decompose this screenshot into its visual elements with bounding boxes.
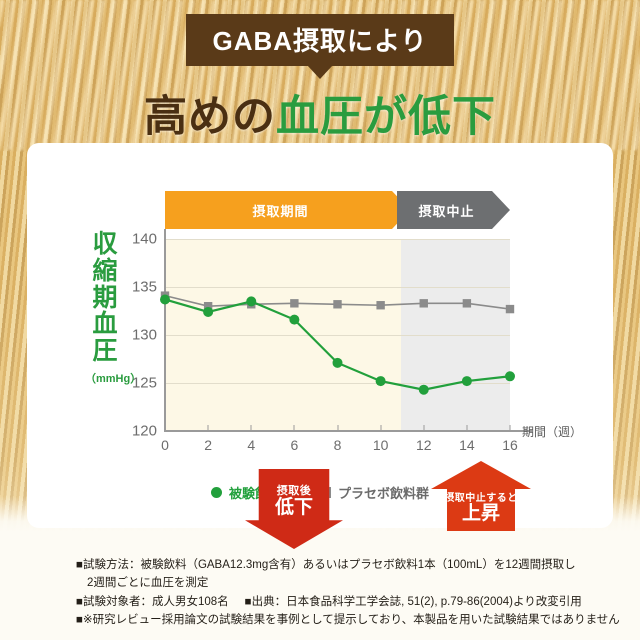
y-caption-char-1: 縮 (85, 258, 125, 285)
y-tick-label-140: 140 (132, 231, 157, 248)
headline-dark-part: 高めの (144, 93, 276, 141)
data-point-プラセボ飲料群-10 (376, 301, 384, 309)
data-point-被験飲料群-14 (462, 376, 472, 386)
series-line-被験飲料群 (165, 299, 510, 389)
data-point-被験飲料群-8 (333, 358, 343, 368)
banner-gaba: GABA摂取により (186, 14, 453, 66)
phase-arrow-row: 摂取期間 摂取中止 (165, 191, 510, 229)
headline-green-part: 血圧が低下 (276, 93, 496, 141)
y-caption-unit: （mmHg） (85, 370, 125, 386)
y-tick-label-130: 130 (132, 327, 157, 344)
data-point-プラセボ飲料群-16 (506, 305, 514, 313)
footnotes: ■試験方法：被験飲料（GABA12.3mg含有）あるいはプラセボ飲料1本（100… (0, 542, 640, 640)
x-axis-caption: 期間（週） (522, 423, 582, 440)
x-tick-label-6: 6 (290, 437, 298, 453)
y-caption-char-3: 血 (85, 311, 125, 338)
footnote-source: ■出典：日本食品科学工学会誌, 51(2), p.79-86(2004)より改変… (245, 593, 582, 612)
data-point-被験飲料群-4 (246, 296, 256, 306)
x-tick-label-14: 14 (459, 437, 475, 453)
data-point-被験飲料群-0 (160, 294, 170, 304)
x-tick-label-10: 10 (373, 437, 389, 453)
y-caption-char-2: 期 (85, 285, 125, 312)
x-tick-label-0: 0 (161, 437, 169, 453)
footnote-subjects-row: ■試験対象者：成人男女108名 ■出典：日本食品科学工学会誌, 51(2), p… (76, 593, 618, 612)
x-tick-label-8: 8 (334, 437, 342, 453)
y-tick-label-125: 125 (132, 375, 157, 392)
callout-decrease-big: 低下 (275, 498, 313, 518)
footnote-subjects: ■試験対象者：成人男女108名 (76, 593, 229, 612)
phase-intake-label: 摂取期間 (252, 201, 308, 220)
y-caption-char-0: 収 (85, 231, 125, 258)
x-tick-label-12: 12 (416, 437, 432, 453)
data-point-被験飲料群-16 (505, 371, 515, 381)
data-point-プラセボ飲料群-14 (463, 299, 471, 307)
callout-increase-top: 摂取中止すると (444, 489, 518, 504)
y-caption-char-4: 圧 (85, 338, 125, 365)
x-tick-label-2: 2 (204, 437, 212, 453)
phase-arrow-intake: 摂取期間 (165, 191, 410, 229)
phase-arrow-stop: 摂取中止 (397, 191, 510, 229)
banner-label: GABA摂取により (212, 26, 427, 56)
data-point-被験飲料群-2 (203, 307, 213, 317)
circle-marker-icon (211, 487, 222, 498)
banner-tail-icon (307, 65, 333, 79)
legend-item-placebo: プラセボ飲料群 (320, 483, 429, 502)
footnote-method: ■試験方法：被験飲料（GABA12.3mg含有）あるいはプラセボ飲料1本（100… (76, 556, 618, 575)
chart-card: 摂取期間 摂取中止 収 縮 期 血 圧 （mmHg） 1201251301351… (27, 143, 613, 528)
footnote-disclaimer: ■※研究レビュー採用論文の試験結果を事例として提示しており、本製品を用いた試験結… (76, 611, 618, 630)
callout-decrease-top: 摂取後 (277, 482, 312, 498)
data-point-被験飲料群-12 (419, 385, 429, 395)
headline-area: GABA摂取により 高めの血圧が低下 (0, 14, 640, 144)
data-point-プラセボ飲料群-8 (333, 300, 341, 308)
data-point-被験飲料群-10 (376, 376, 386, 386)
data-point-被験飲料群-6 (289, 315, 299, 325)
footnote-method-cont: 2週間ごとに血圧を測定 (76, 574, 618, 593)
plot-area: 120125130135140 0246810121416 期間（週） (165, 239, 510, 431)
y-tick-label-135: 135 (132, 279, 157, 296)
y-axis-caption: 収 縮 期 血 圧 （mmHg） (85, 231, 125, 386)
data-point-プラセボ飲料群-12 (420, 299, 428, 307)
legend-label-placebo: プラセボ飲料群 (338, 483, 429, 502)
callout-increase-big: 上昇 (462, 504, 500, 524)
data-point-プラセボ飲料群-6 (290, 299, 298, 307)
x-tick-label-4: 4 (247, 437, 255, 453)
series-plot (165, 239, 510, 431)
x-tick-label-16: 16 (502, 437, 518, 453)
page-title: 高めの血圧が低下 (0, 82, 640, 144)
y-tick-label-120: 120 (132, 423, 157, 440)
phase-stop-label: 摂取中止 (418, 201, 474, 220)
